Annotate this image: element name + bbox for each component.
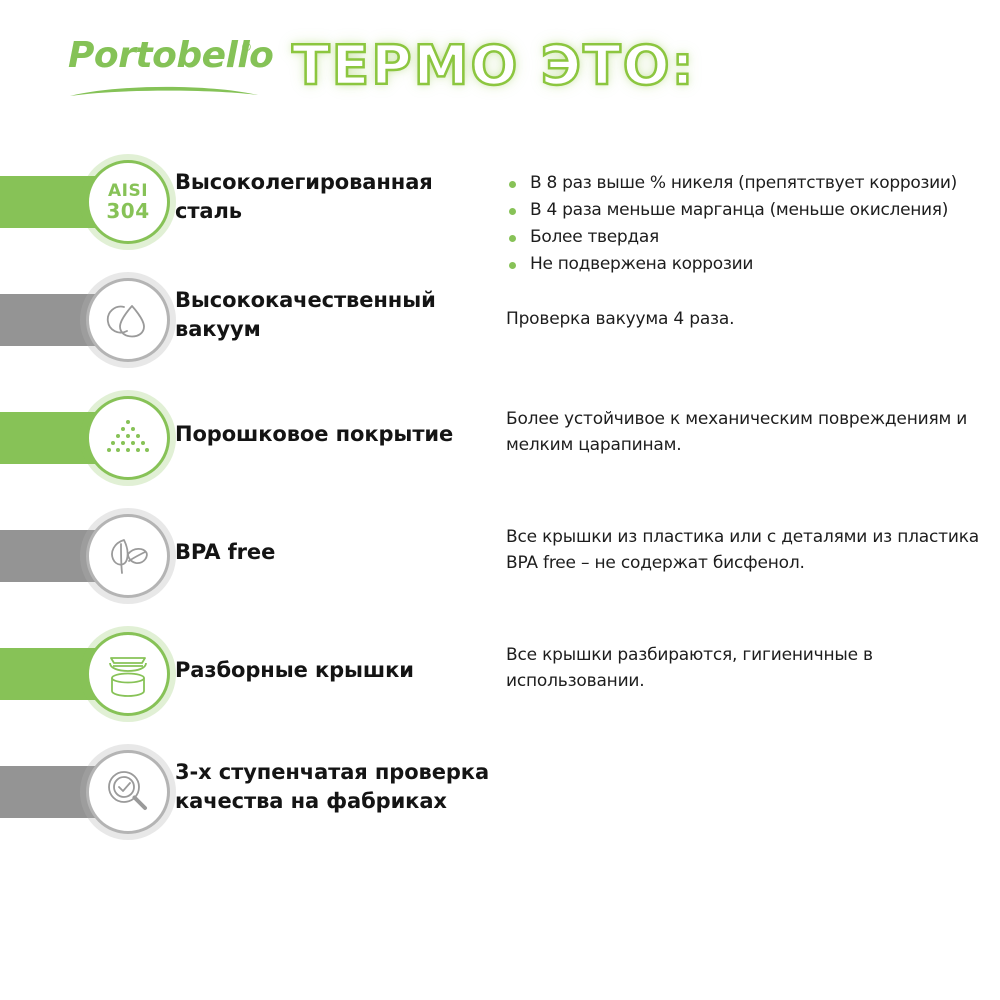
badge-label-304: 304 (106, 201, 149, 222)
feature-title: Высококачественный вакуум (175, 286, 495, 344)
feature-description: Проверка вакуума 4 раза. (506, 306, 986, 332)
feature-description: Все крышки из пластика или с деталями из… (506, 524, 986, 576)
leaves-badge (86, 514, 170, 598)
feature-title: Порошковое покрытие (175, 420, 495, 449)
feature-title: Высоколегированная сталь (175, 168, 495, 226)
aisi-304-badge-icon: AISI 304 (86, 160, 170, 244)
feature-row-detachable-lids: Разборные крышки Все крышки разбираются,… (0, 632, 1000, 750)
feature-row-vacuum: Высококачественный вакуум Проверка вакуу… (0, 278, 1000, 396)
water-drop-icon (103, 295, 153, 345)
page-title: ТЕРМО ЭТО: (292, 34, 696, 98)
feature-list: AISI 304 Высоколегированная сталь В 8 ра… (0, 160, 1000, 868)
water-drop-badge (86, 278, 170, 362)
portobello-logo: Portobello ® (68, 38, 268, 100)
leaves-icon (102, 532, 154, 580)
list-item: Более твердая (506, 224, 996, 251)
magnifier-check-badge (86, 750, 170, 834)
powder-dots-badge (86, 396, 170, 480)
list-item: В 8 раз выше % никеля (препятствует корр… (506, 170, 996, 197)
magnifier-check-icon (102, 766, 154, 818)
feature-row-quality-check: 3-х ступенчатая проверка качества на фаб… (0, 750, 1000, 868)
feature-row-steel: AISI 304 Высоколегированная сталь В 8 ра… (0, 160, 1000, 278)
feature-description: Все крышки разбираются, гигиеничные в ис… (506, 642, 986, 694)
powder-dots-icon (104, 416, 152, 460)
list-item: В 4 раза меньше марганца (меньше окислен… (506, 197, 996, 224)
feature-title: 3-х ступенчатая проверка качества на фаб… (175, 758, 495, 816)
detachable-lid-badge (86, 632, 170, 716)
feature-row-powder-coating: Порошковое покрытие Более устойчивое к м… (0, 396, 1000, 514)
feature-title: BPA free (175, 538, 495, 567)
feature-title: Разборные крышки (175, 656, 495, 685)
feature-bullet-list: В 8 раз выше % никеля (препятствует корр… (506, 170, 996, 278)
page-header: Portobello ® ТЕРМО ЭТО: (0, 0, 1000, 140)
feature-description: Более устойчивое к механическим поврежде… (506, 406, 986, 458)
registered-trademark-icon: ® (242, 40, 251, 54)
list-item: Не подвержена коррозии (506, 251, 996, 278)
detachable-lid-icon (102, 649, 154, 699)
feature-row-bpa-free: BPA free Все крышки из пластика или с де… (0, 514, 1000, 632)
portobello-swoosh-icon (68, 82, 260, 98)
